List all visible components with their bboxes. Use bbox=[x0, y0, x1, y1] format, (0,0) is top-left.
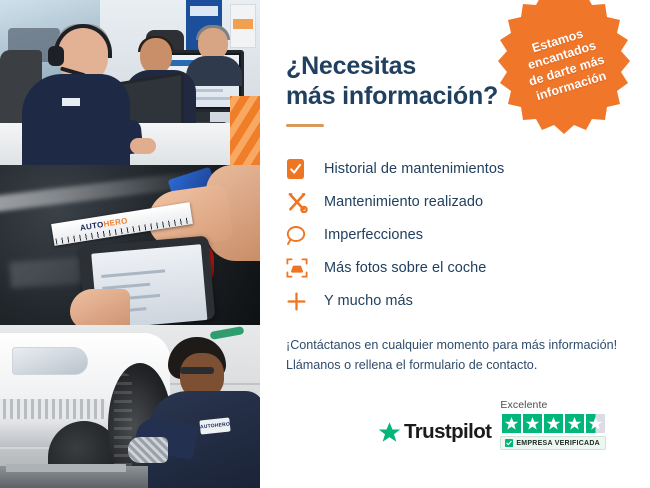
star-filled bbox=[565, 414, 584, 433]
content-panel: Estamos encantados de darte más informac… bbox=[260, 0, 650, 488]
mechanic: AUTOHERO bbox=[140, 337, 260, 488]
photo-strip: AUTOHERO bbox=[0, 0, 260, 488]
tablet-screen-row bbox=[101, 269, 165, 278]
list-item: Y mucho más bbox=[286, 285, 624, 317]
document-check-icon bbox=[286, 158, 316, 180]
trustpilot-score-block: Excelente bbox=[500, 399, 606, 450]
star-filled bbox=[523, 414, 542, 433]
safety-glasses bbox=[180, 367, 214, 374]
car-photo-frame-icon bbox=[286, 258, 316, 278]
contact-paragraph-line-1: ¡Contáctanos en cualquier momento para m… bbox=[286, 338, 617, 352]
page-title: ¿Necesitas más información? bbox=[286, 52, 516, 111]
tools-wrench-screwdriver-icon bbox=[286, 191, 316, 213]
list-item-label: Mantenimiento realizado bbox=[316, 194, 483, 210]
list-item-label: Imperfecciones bbox=[316, 227, 423, 243]
name-badge bbox=[62, 98, 80, 106]
list-item-label: Más fotos sobre el coche bbox=[316, 260, 486, 276]
trustpilot-stars bbox=[502, 414, 605, 433]
trustpilot-rating-label: Excelente bbox=[500, 399, 547, 411]
check-square-icon bbox=[505, 439, 513, 447]
mechanic-tyre-inspection-photo: AUTOHERO bbox=[0, 325, 260, 488]
list-item-label: Y mucho más bbox=[316, 293, 413, 309]
car-lift-arm bbox=[6, 464, 126, 472]
star-filled bbox=[544, 414, 563, 433]
verified-company-text: EMPRESA VERIFICADA bbox=[516, 440, 600, 447]
contact-paragraph-line-2: Llámanos o rellena el formulario de cont… bbox=[286, 358, 537, 372]
page-title-line-2: más información? bbox=[286, 82, 498, 110]
hand bbox=[130, 138, 156, 154]
badge-text: Estamos encantados de darte más informac… bbox=[502, 17, 628, 110]
hand-holding-tablet bbox=[70, 289, 130, 325]
trustpilot-star-icon bbox=[378, 421, 401, 444]
verified-company-badge: EMPRESA VERIFICADA bbox=[500, 436, 606, 450]
contact-paragraph: ¡Contáctanos en cualquier momento para m… bbox=[286, 335, 624, 376]
headset-earpiece bbox=[48, 46, 64, 66]
list-item: Imperfecciones bbox=[286, 219, 624, 251]
page-title-line-1: ¿Necesitas bbox=[286, 52, 416, 80]
list-item: Historial de mantenimientos bbox=[286, 153, 624, 185]
trustpilot-logo[interactable]: Trustpilot bbox=[378, 420, 491, 450]
work-glove bbox=[128, 437, 168, 463]
feature-list: Historial de mantenimientos Mantenimient… bbox=[286, 153, 624, 317]
information-request-banner: AUTOHERO bbox=[0, 0, 650, 488]
car-inspection-ruler-photo: AUTOHERO bbox=[0, 165, 260, 325]
headlight bbox=[12, 347, 88, 375]
head bbox=[140, 38, 172, 74]
status-badge: Estamos encantados de darte más informac… bbox=[490, 0, 638, 136]
trustpilot-logo-text: Trustpilot bbox=[404, 420, 491, 444]
magnifier-icon bbox=[286, 225, 316, 246]
list-item: Mantenimiento realizado bbox=[286, 186, 624, 218]
call-centre-agents-photo bbox=[0, 0, 260, 165]
list-item: Más fotos sobre el coche bbox=[286, 252, 624, 284]
star-filled bbox=[502, 414, 521, 433]
foreground-agent bbox=[22, 26, 130, 165]
title-divider bbox=[286, 124, 324, 127]
orange-equipment bbox=[230, 96, 260, 165]
trustpilot-rating[interactable]: Trustpilot Excelente bbox=[378, 399, 606, 450]
headset-icon bbox=[472, 6, 498, 30]
lower-grille bbox=[0, 399, 106, 419]
list-item-label: Historial de mantenimientos bbox=[316, 161, 504, 177]
star-half bbox=[586, 414, 605, 433]
plus-icon bbox=[286, 291, 316, 312]
